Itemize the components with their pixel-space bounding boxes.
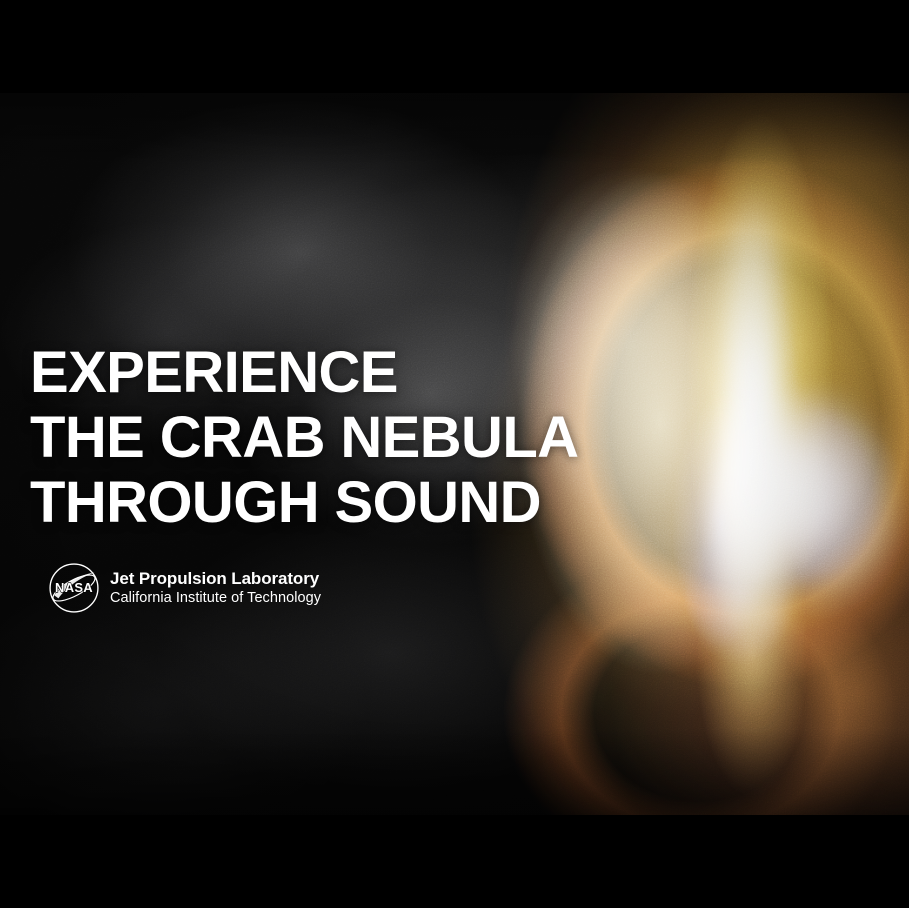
letterbox-bar-top — [0, 0, 909, 93]
jpl-primary-text: Jet Propulsion Laboratory — [110, 570, 321, 587]
svg-text:NASA: NASA — [55, 580, 93, 595]
headline-line-2: THE CRAB NEBULA — [30, 405, 650, 470]
headline-line-3: THROUGH SOUND — [30, 470, 650, 535]
nasa-jpl-logo-lockup: NASA Jet Propulsion Laboratory Californi… — [48, 562, 321, 614]
letterbox-bar-bottom — [0, 815, 909, 908]
nasa-meatball-icon: NASA — [48, 562, 100, 614]
headline-line-1: EXPERIENCE — [30, 340, 650, 405]
jpl-wordmark: Jet Propulsion Laboratory California Ins… — [110, 570, 321, 606]
jpl-secondary-text: California Institute of Technology — [110, 591, 321, 606]
crab-nebula-poster: EXPERIENCE THE CRAB NEBULA THROUGH SOUND… — [0, 0, 909, 908]
headline: EXPERIENCE THE CRAB NEBULA THROUGH SOUND — [30, 340, 650, 535]
text-overlay: EXPERIENCE THE CRAB NEBULA THROUGH SOUND… — [0, 0, 909, 908]
